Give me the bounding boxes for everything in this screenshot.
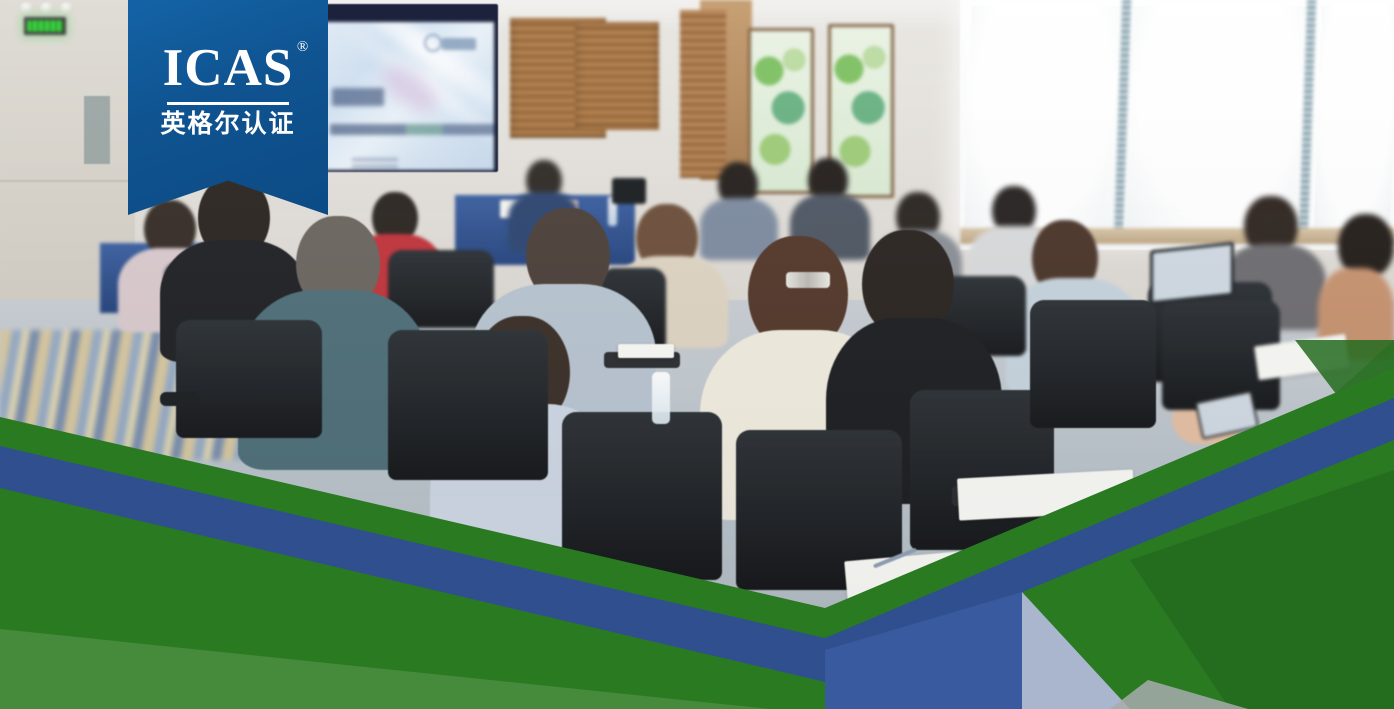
- logo-wordmark-wrapper: ICAS ®: [163, 42, 294, 99]
- registered-trademark-icon: ®: [297, 40, 309, 55]
- logo-wordmark-text: ICAS: [163, 39, 294, 97]
- logo-chinese-name: 英格尔认证: [160, 111, 295, 136]
- logo-underline-rule: [167, 102, 289, 105]
- event-banner: ICAS ® 英格尔认证: [0, 0, 1394, 709]
